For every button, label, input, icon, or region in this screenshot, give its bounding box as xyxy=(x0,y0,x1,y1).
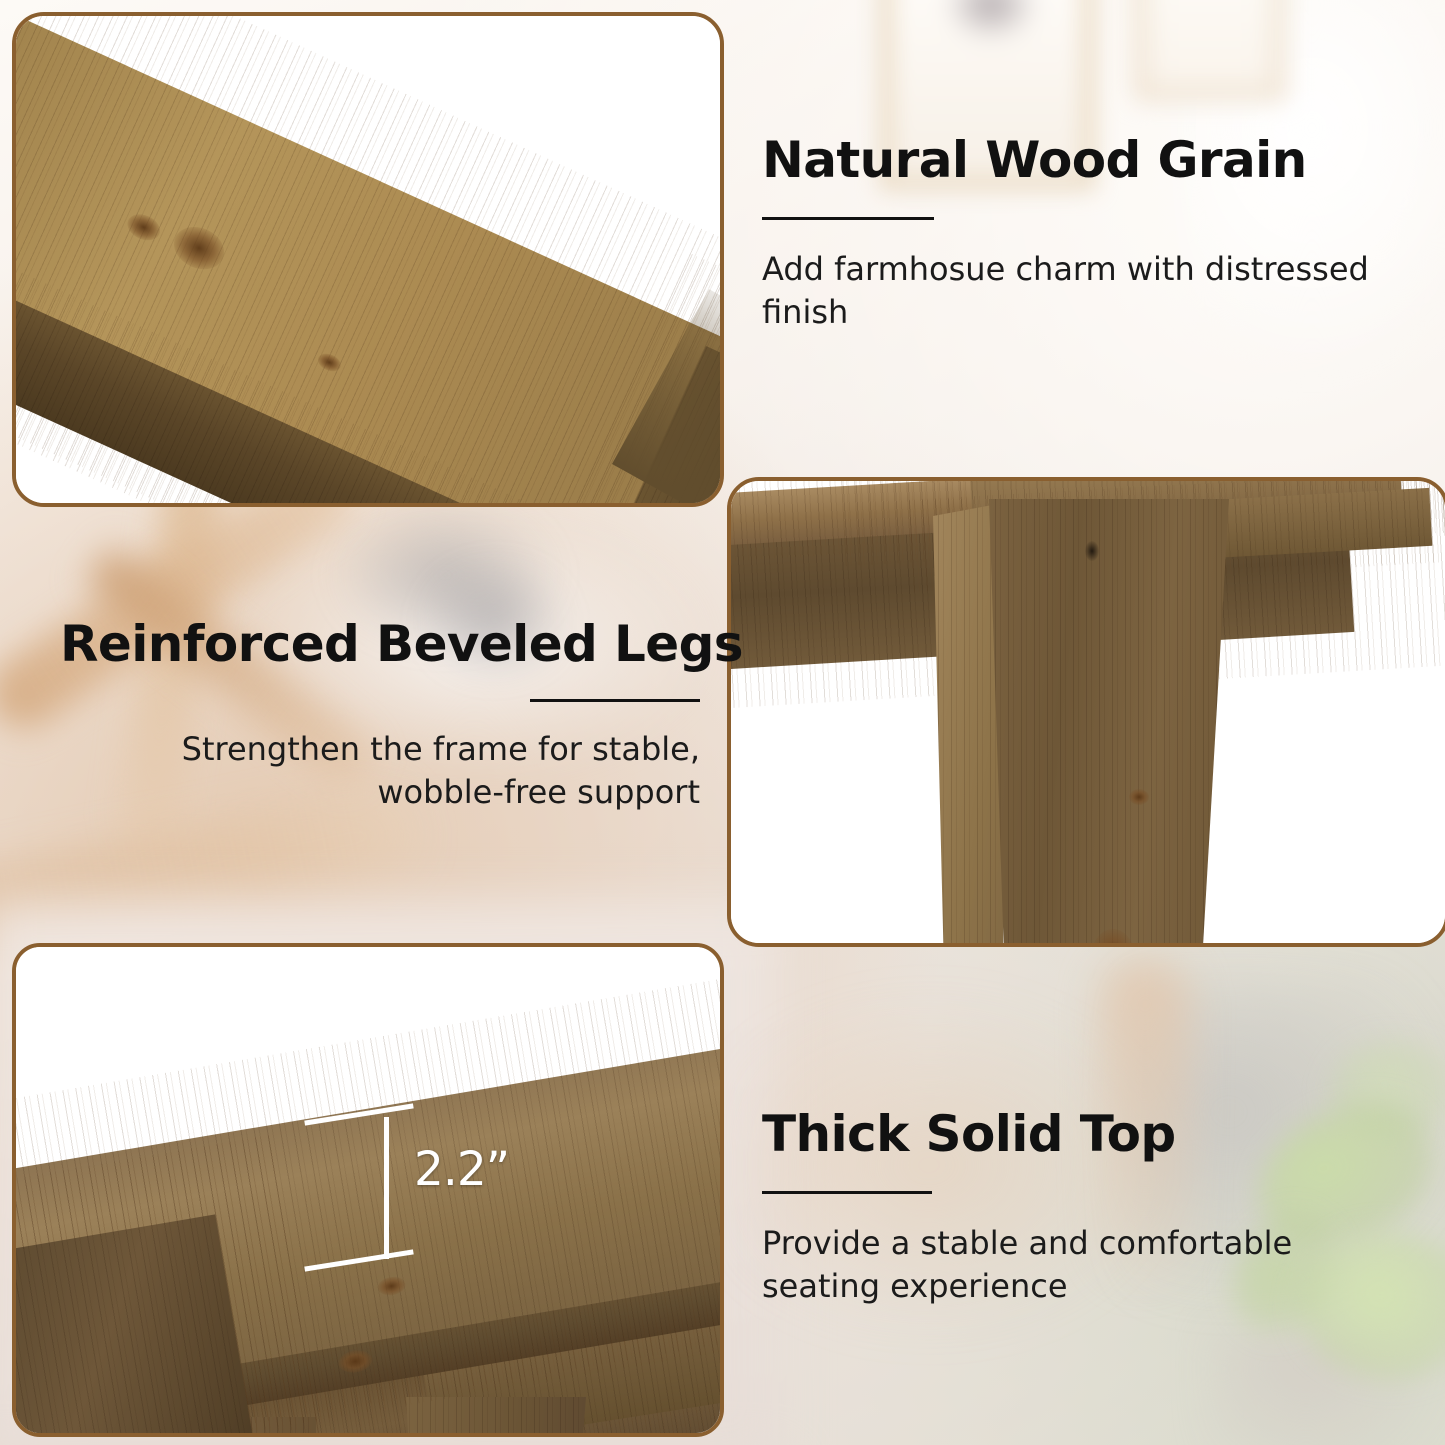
background-wall-art-frame-2 xyxy=(1135,0,1285,100)
feature-text-reinforced-beveled-legs: Reinforced Beveled Legs Strengthen the f… xyxy=(60,618,700,813)
bench-leg-right xyxy=(406,1397,586,1437)
feature-description: Strengthen the frame for stable, wobble-… xyxy=(60,728,700,813)
feature-description: Provide a stable and comfortable seating… xyxy=(762,1222,1402,1307)
bench-top-corner xyxy=(12,1214,254,1437)
feature-text-natural-wood-grain: Natural Wood Grain Add farmhosue charm w… xyxy=(762,134,1382,333)
heading-rule xyxy=(762,1191,932,1194)
feature-heading: Natural Wood Grain xyxy=(762,134,1382,187)
dimension-vertical-line xyxy=(384,1117,389,1259)
dimension-bottom-cap xyxy=(304,1249,413,1271)
feature-photo-thick-solid-top: 2.2” xyxy=(12,943,724,1437)
wood-grain-photo xyxy=(16,16,720,503)
thickness-dimension-callout: 2.2” xyxy=(304,1112,534,1272)
feature-heading: Thick Solid Top xyxy=(762,1108,1402,1161)
beveled-leg-photo xyxy=(731,481,1445,943)
feature-text-thick-solid-top: Thick Solid Top Provide a stable and com… xyxy=(762,1108,1402,1307)
beveled-leg-front-face xyxy=(989,499,1229,947)
feature-photo-natural-wood-grain xyxy=(12,12,724,507)
heading-rule xyxy=(762,217,934,220)
feature-description: Add farmhosue charm with distressed fini… xyxy=(762,248,1382,333)
heading-rule xyxy=(530,699,700,702)
feature-photo-reinforced-beveled-legs xyxy=(727,477,1445,947)
background-wall-art-motif xyxy=(942,0,1040,43)
screw-head-icon xyxy=(1085,541,1099,561)
thickness-value-label: 2.2” xyxy=(414,1142,509,1197)
wood-knot-icon xyxy=(1129,789,1149,805)
feature-heading: Reinforced Beveled Legs xyxy=(60,618,700,671)
